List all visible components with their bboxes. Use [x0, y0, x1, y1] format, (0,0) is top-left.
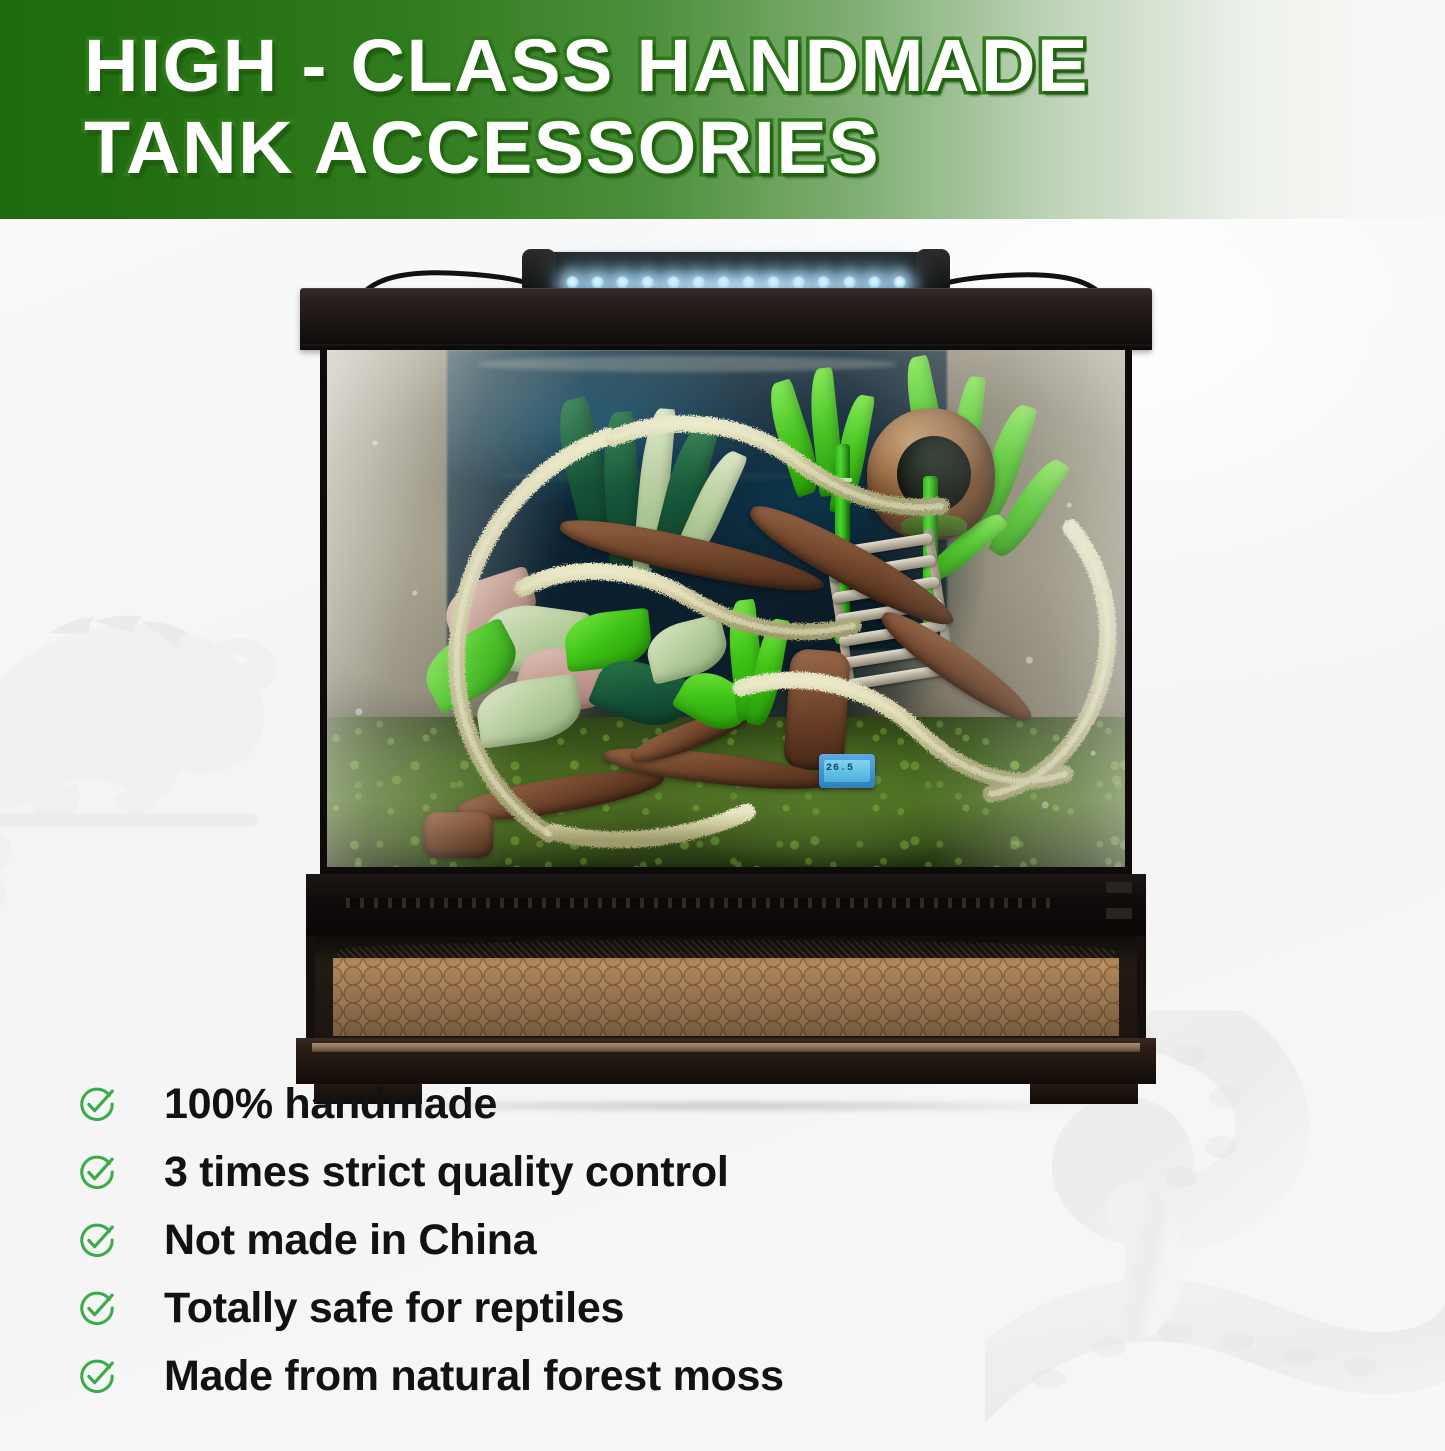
feature-label: Made from natural forest moss [164, 1352, 784, 1401]
check-circle-icon [78, 1153, 116, 1191]
feature-item-3: Totally safe for reptiles [78, 1274, 1058, 1342]
digital-thermometer: 26.5 [819, 754, 875, 788]
moss-covered-vine [371, 402, 1132, 862]
page-title-line-2: TANK ACCESSORIES [84, 109, 1206, 187]
vent-tab [1106, 908, 1132, 919]
feature-label: Totally safe for reptiles [164, 1284, 624, 1333]
header-banner: HIGH - CLASS HANDMADE TANK ACCESSORIES [0, 0, 1445, 219]
feature-item-1: 3 times strict quality control [78, 1138, 1058, 1206]
check-circle-icon [78, 1221, 116, 1259]
tank-ventilation-strip [306, 874, 1146, 936]
feature-label: Not made in China [164, 1216, 536, 1265]
check-circle-icon [78, 1289, 116, 1327]
pebble-shading [315, 936, 1137, 1040]
feature-item-4: Made from natural forest moss [78, 1342, 1058, 1410]
vent-tab [1106, 882, 1132, 893]
check-circle-icon [78, 1357, 116, 1395]
feature-item-0: 100% handmade [78, 1070, 1058, 1138]
check-circle-icon [78, 1085, 116, 1123]
product-photo-terrarium: 26.5 [296, 246, 1156, 1036]
tank-glass-enclosure: 26.5 [320, 346, 1132, 874]
vent-slits [346, 898, 1056, 908]
feature-list: 100% handmade 3 times strict quality con… [78, 1070, 1058, 1410]
clay-pebble-drainage-layer [306, 936, 1146, 1040]
tank-top-frame [300, 288, 1152, 350]
header-title-block: HIGH - CLASS HANDMADE TANK ACCESSORIES [84, 27, 1184, 187]
base-trim [312, 1043, 1140, 1052]
thermometer-reading: 26.5 [826, 763, 854, 774]
page-title-line-1: HIGH - CLASS HANDMADE [84, 27, 1206, 105]
feature-item-2: Not made in China [78, 1206, 1058, 1274]
feature-label: 3 times strict quality control [164, 1148, 728, 1197]
feature-label: 100% handmade [164, 1080, 497, 1129]
